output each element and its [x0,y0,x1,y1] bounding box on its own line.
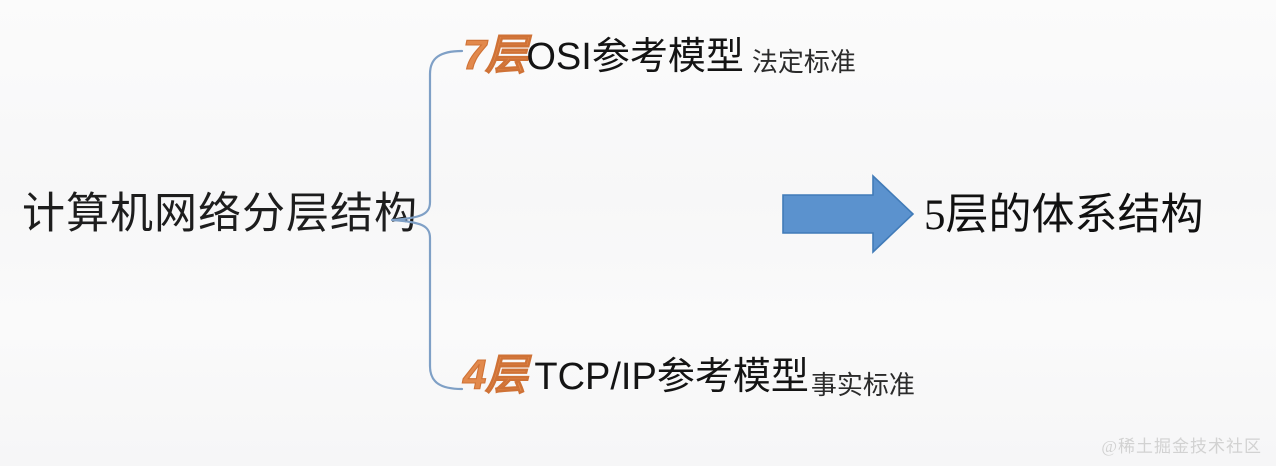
branch-tcp-model-name: TCP/IP参考模型 [534,354,808,400]
watermark: @稀土掘金技术社区 [1101,436,1262,458]
branch-osi-model-name: OSI参考模型 [526,34,743,80]
slide-canvas: 计算机网络分层结构 7层 OSI参考模型 法定标准 4层 TCP/IP参考模型 … [0,0,1276,466]
branch-osi: 7层 OSI参考模型 法定标准 [463,32,856,84]
branch-osi-layer-count: 7层 [463,32,526,78]
branch-tcp-qualifier: 事实标准 [811,363,915,409]
branch-tcp: 4层 TCP/IP参考模型 事实标准 [463,352,915,404]
root-concept-label: 计算机网络分层结构 [22,186,418,244]
right-arrow-icon [780,172,916,256]
result-label: 5层的体系结构 [924,188,1204,244]
curly-brace-connector [388,48,472,392]
branch-osi-qualifier: 法定标准 [752,40,856,86]
branch-tcp-layer-count: 4层 [463,352,526,398]
